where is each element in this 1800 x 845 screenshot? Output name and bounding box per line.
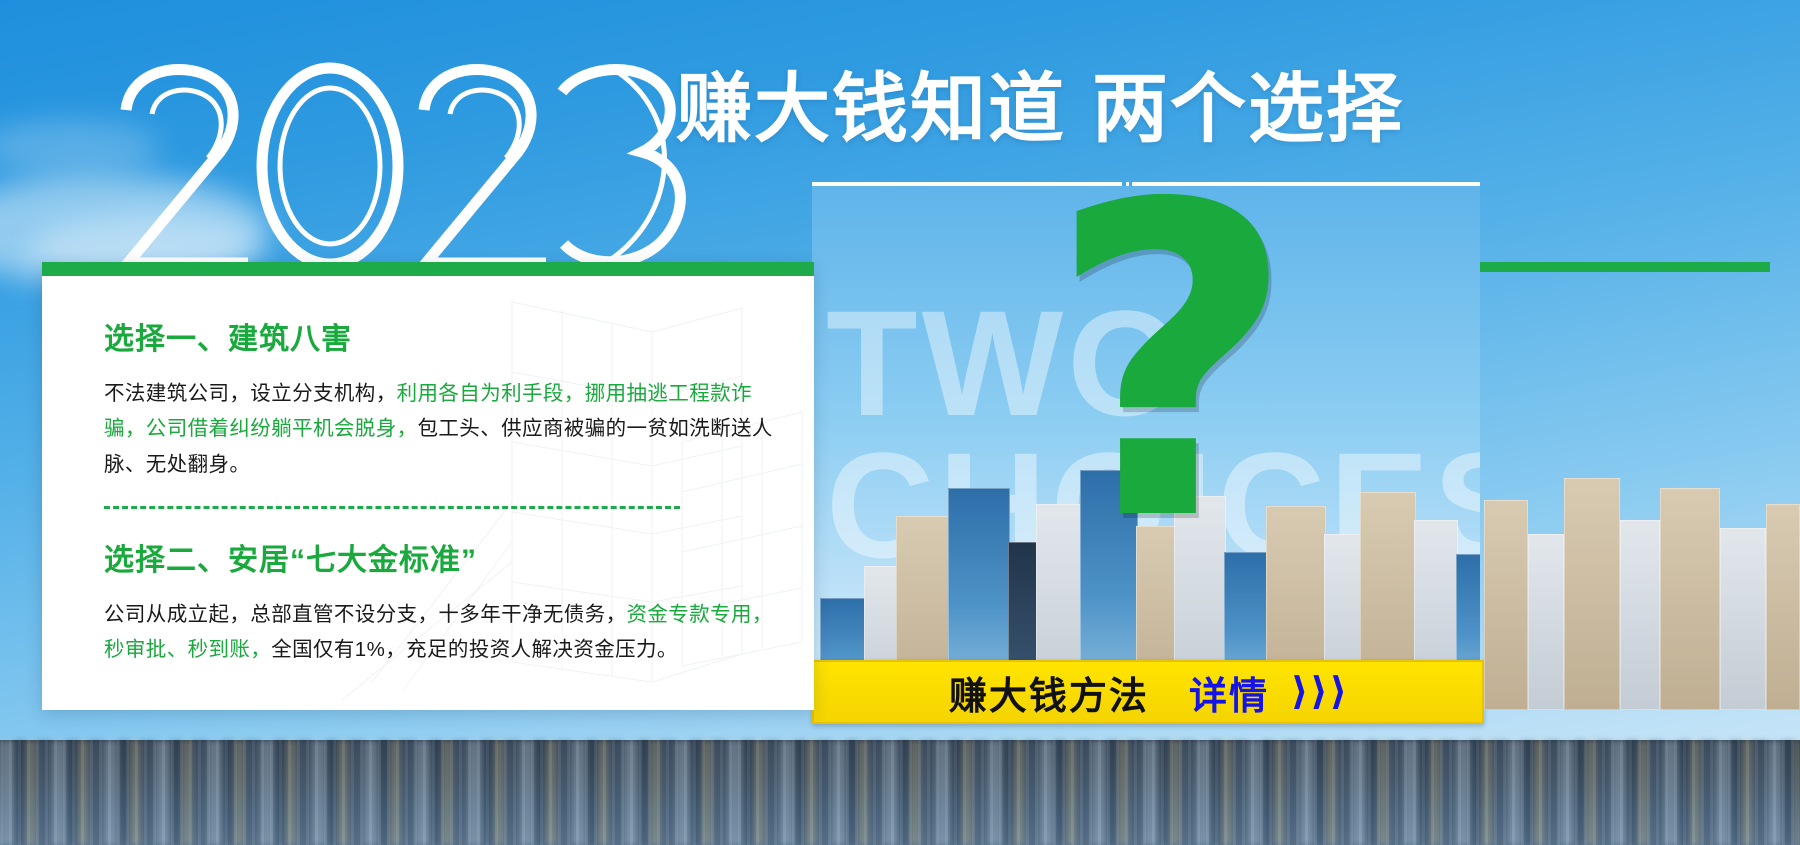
year-2023-graphic: 年 bbox=[108, 58, 708, 273]
question-mark-graphic: ? bbox=[1047, 198, 1296, 533]
section-1-body: 不法建筑公司，设立分支机构，利用各自为利手段，挪用抽逃工程款诈骗，公司借着纠纷躺… bbox=[104, 376, 774, 482]
section-2-part-3: 全国仅有1%，充足的投资人解决资金压力。 bbox=[271, 638, 678, 661]
cta-link-label[interactable]: 详情 bbox=[1189, 665, 1269, 720]
cta-main-label: 赚大钱方法 bbox=[949, 665, 1149, 720]
bottom-reflection-strip bbox=[0, 740, 1800, 845]
section-2-title: 选择二、安居“七大金标准” bbox=[104, 535, 774, 579]
city-photo-panel: TWO CHOICES ? bbox=[812, 186, 1480, 702]
section-1-part-1: 不法建筑公司，设立分支机构， bbox=[104, 382, 397, 405]
section-2-body: 公司从成立起，总部直管不设分支，十多年干净无债务，资金专款专用，秒审批、秒到账，… bbox=[104, 597, 774, 668]
section-1-title: 选择一、建筑八害 bbox=[104, 314, 774, 358]
cta-banner[interactable]: 赚大钱方法 详情 ⟩⟩⟩ bbox=[812, 660, 1484, 724]
content-card: 选择一、建筑八害 不法建筑公司，设立分支机构，利用各自为利手段，挪用抽逃工程款诈… bbox=[42, 262, 814, 710]
poster-canvas: 年 赚大钱知道两个选择 TWO CHOICES bbox=[0, 0, 1800, 845]
chevron-right-icon: ⟩⟩⟩ bbox=[1291, 673, 1347, 711]
headline-left: 赚大钱知道 bbox=[676, 67, 1066, 152]
right-edge-skyline bbox=[1480, 420, 1800, 710]
bottom-blur-overlay bbox=[0, 740, 1800, 845]
page-title: 赚大钱知道两个选择 bbox=[676, 72, 1404, 148]
dashed-divider bbox=[104, 506, 680, 509]
green-accent-bar-right bbox=[1480, 262, 1770, 272]
headline-right: 两个选择 bbox=[1092, 67, 1404, 152]
section-2-part-1: 公司从成立起，总部直管不设分支，十多年干净无债务， bbox=[104, 603, 627, 626]
